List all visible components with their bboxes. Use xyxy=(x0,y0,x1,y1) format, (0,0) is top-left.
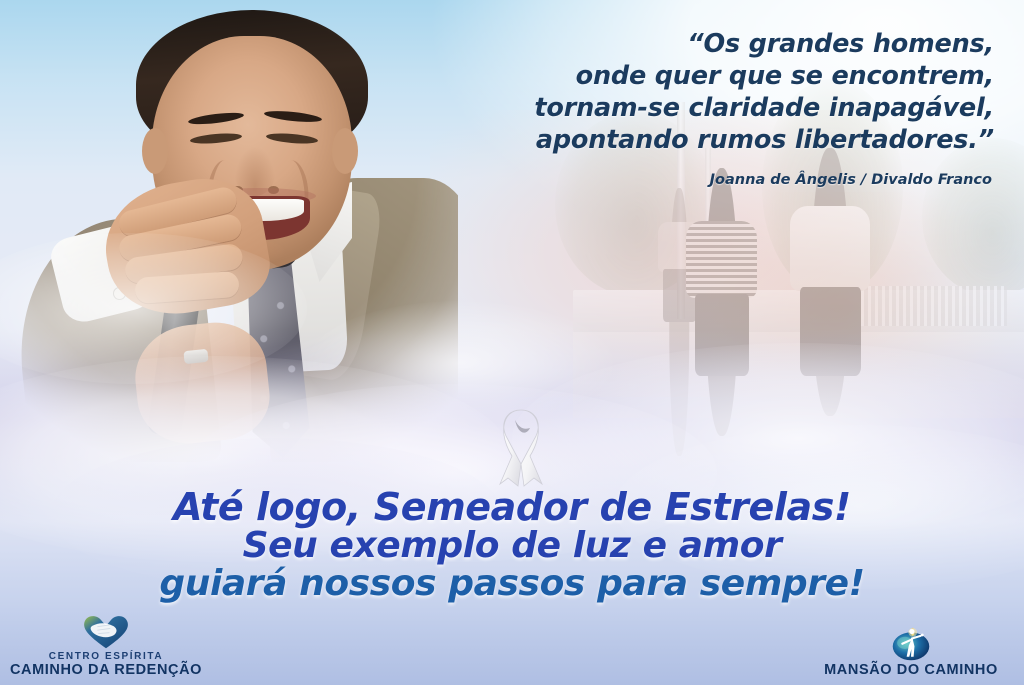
quote-attribution: Joanna de Ângelis / Divaldo Franco xyxy=(472,172,992,188)
globe-with-figure-torch-icon xyxy=(806,622,1016,662)
heart-with-hand-icon xyxy=(8,611,204,651)
quote-line-4: apontando rumos libertadores.” xyxy=(536,125,994,155)
logo-centro-espirita-caminho-da-redencao: CENTRO ESPÍRITA CAMINHO DA REDENÇÃO xyxy=(8,611,204,679)
quote-text: “Os grandes homens, onde quer que se enc… xyxy=(414,28,994,157)
quote-line-1: “Os grandes homens, xyxy=(687,29,994,59)
ear-left xyxy=(142,128,168,174)
memorial-poster: “Os grandes homens, onde quer que se enc… xyxy=(0,0,1024,685)
quote-line-2: onde quer que se encontrem, xyxy=(576,61,994,91)
logo-right-line-2: MANSÃO DO CAMINHO xyxy=(806,662,1016,679)
ear-right xyxy=(332,128,358,174)
headline: Até logo, Semeador de Estrelas! Seu exem… xyxy=(0,487,1024,604)
logo-left-line-1: CENTRO ESPÍRITA xyxy=(8,651,204,662)
logo-left-line-2: CAMINHO DA REDENÇÃO xyxy=(8,662,204,679)
headline-line-2: Seu exemplo de luz e amor xyxy=(0,527,1024,565)
white-ribbon-icon xyxy=(488,404,554,490)
railing-shape xyxy=(847,286,1007,325)
tree-shape xyxy=(922,138,1024,296)
headline-line-3: guiará nossos passos para sempre! xyxy=(0,565,1024,603)
quote-line-3: tornam-se claridade inapagável, xyxy=(534,93,994,123)
logo-mansao-do-caminho: MANSÃO DO CAMINHO xyxy=(806,622,1016,679)
headline-line-1: Até logo, Semeador de Estrelas! xyxy=(0,487,1024,527)
